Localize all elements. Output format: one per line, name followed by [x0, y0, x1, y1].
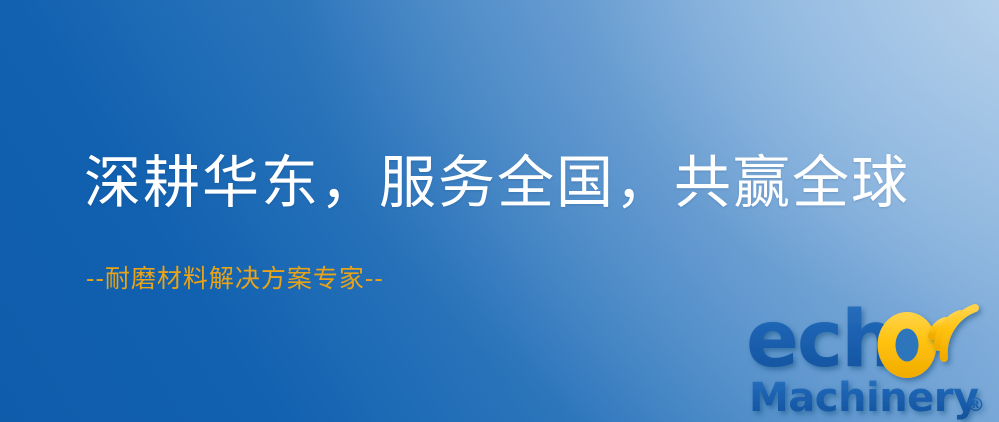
svg-text:Machinery: Machinery	[749, 375, 979, 421]
echo-machinery-logo: ech Machinery ®	[744, 296, 999, 422]
logo-tagline-machinery-icon: Machinery ®	[749, 375, 985, 421]
logo-gold-o-counter-icon	[896, 329, 919, 362]
banner-headline: 深耕华东，服务全国，共赢全球	[84, 155, 910, 212]
echo-waves-icon	[932, 308, 975, 358]
svg-text:ech: ech	[746, 296, 895, 385]
svg-text:®: ®	[966, 394, 985, 416]
banner-subheadline: --耐磨材料解决方案专家--	[86, 266, 384, 291]
promo-banner: 深耕华东，服务全国，共赢全球 --耐磨材料解决方案专家--	[0, 0, 999, 422]
logo-wordmark-echo-icon: ech	[746, 296, 937, 385]
